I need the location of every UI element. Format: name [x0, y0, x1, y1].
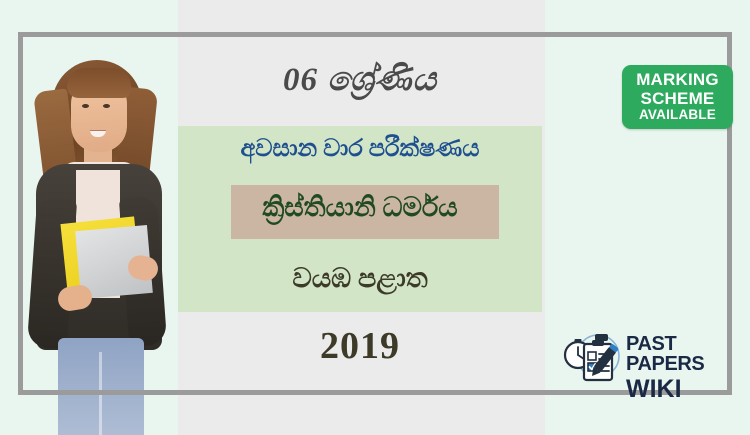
badge-line-1: MARKING — [636, 71, 719, 89]
logo-line-1: PAST PAPERS — [626, 334, 734, 374]
hair-fringe — [67, 68, 131, 98]
logo-line-2: WIKI — [626, 377, 734, 402]
subject-title: ක්‍රිස්තියානි ධර්මය — [178, 192, 542, 224]
jeans — [58, 338, 144, 435]
exam-paper-poster: 06 ශ්‍රේණිය අවසාන වාර පරීක්ෂණය ක්‍රිස්ති… — [0, 0, 750, 435]
badge-line-3: AVAILABLE — [639, 108, 716, 123]
eye-left — [82, 104, 89, 108]
year-label: 2019 — [178, 324, 542, 368]
past-papers-wiki-logo[interactable]: PAST PAPERS WIKI — [562, 328, 734, 390]
student-photo — [14, 38, 182, 435]
marking-scheme-badge[interactable]: MARKING SCHEME AVAILABLE — [622, 65, 733, 129]
grade-title: 06 ශ්‍රේණිය — [178, 62, 542, 99]
clipboard-stopwatch-pen-icon — [562, 328, 624, 388]
exam-name-title: අවසාන වාර පරීක්ෂණය — [178, 136, 542, 163]
logo-wordmark: PAST PAPERS WIKI — [626, 334, 734, 402]
province-title: වයඹ පළාත — [178, 263, 542, 295]
badge-line-2: SCHEME — [641, 90, 715, 108]
eye-right — [103, 104, 110, 108]
